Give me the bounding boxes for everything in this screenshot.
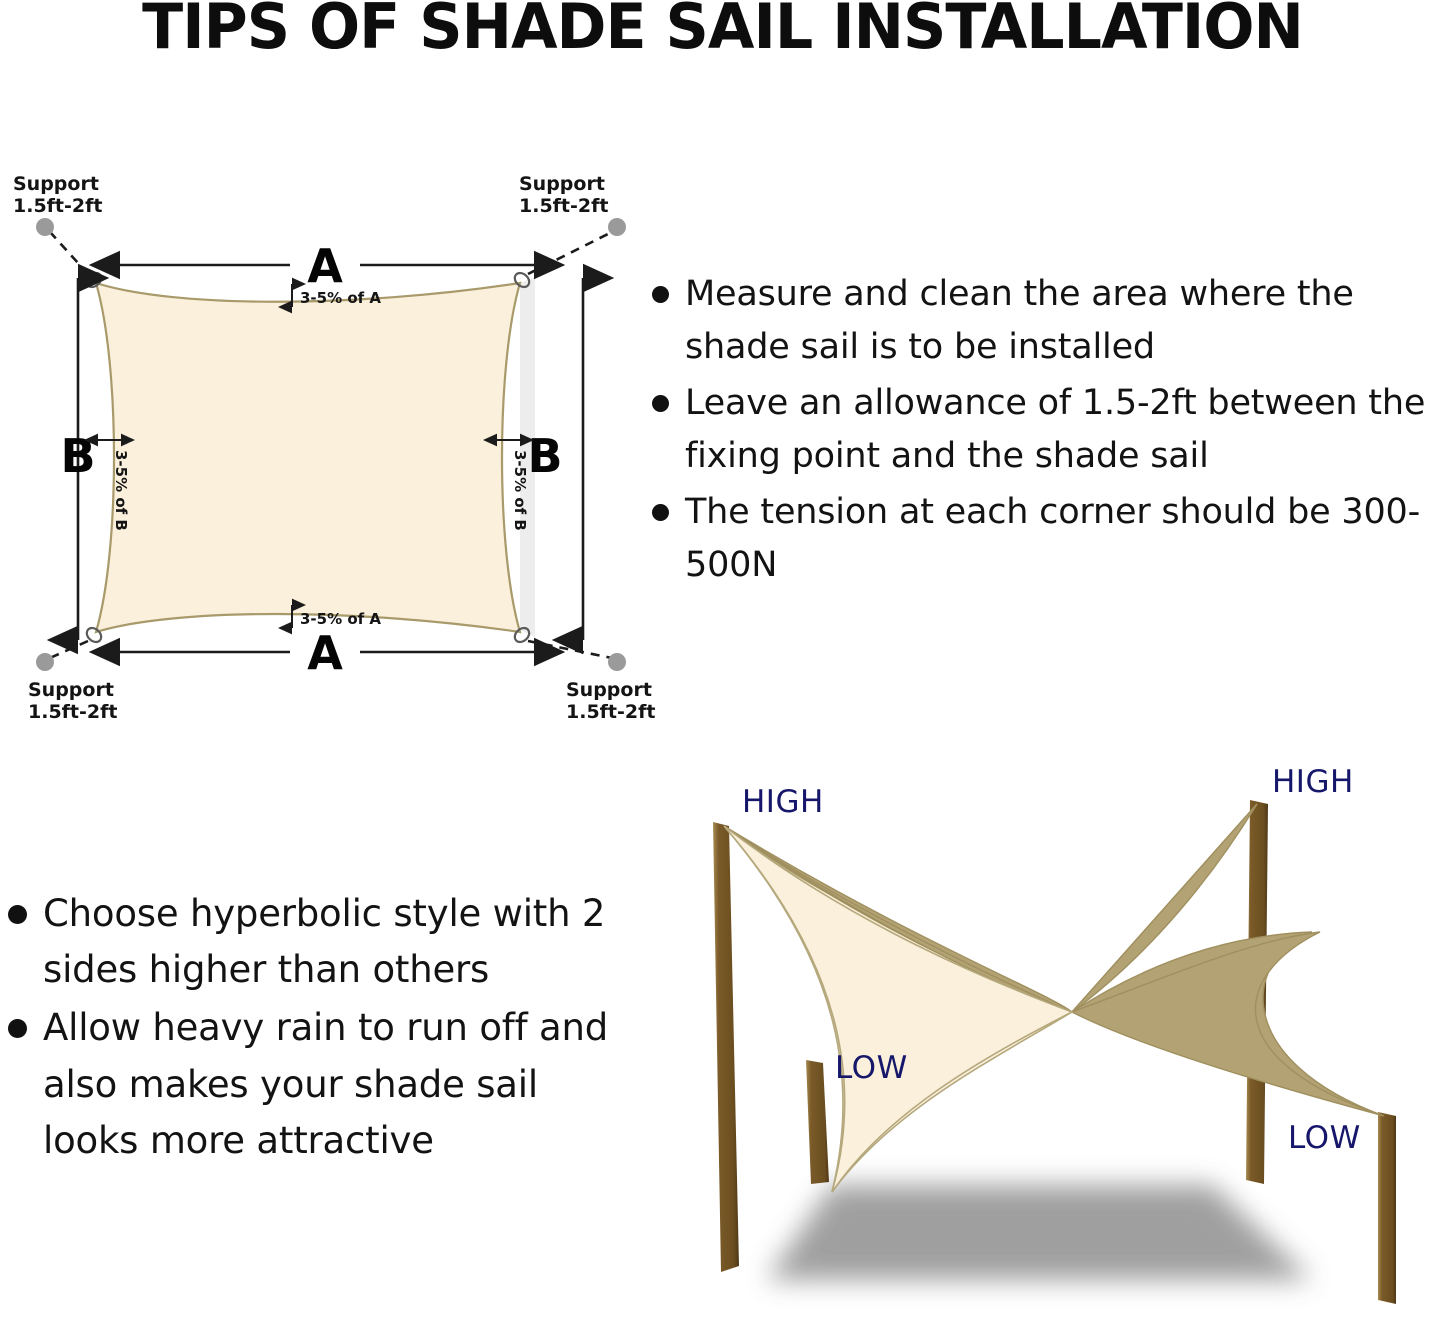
tip-text: Measure and clean the area where the sha… (685, 268, 1445, 373)
ground-shadow (767, 1185, 1312, 1280)
label-low-right: LOW (1288, 1120, 1361, 1156)
post-low-left (806, 1060, 829, 1184)
list-item: The tension at each corner should be 300… (652, 486, 1445, 591)
rectangular-sail-diagram: Support 1.5ft-2ft Support 1.5ft-2ft Supp… (0, 150, 660, 730)
label-low-left: LOW (835, 1050, 908, 1086)
dimension-b-label: B (527, 429, 562, 483)
bullet-icon (8, 1019, 27, 1038)
post-low-right (1378, 1112, 1396, 1304)
support-label-line1: Support (519, 173, 605, 195)
tip-text: Leave an allowance of 1.5-2ft between th… (685, 377, 1445, 482)
hyperbolic-sail-illustration: HIGH HIGH LOW LOW (672, 760, 1445, 1319)
bullet-icon (652, 504, 669, 521)
installation-tips-list: Measure and clean the area where the sha… (652, 268, 1445, 595)
support-label-top-right: Support 1.5ft-2ft (519, 173, 608, 217)
support-label-line1: Support (13, 173, 99, 195)
post-high-left (713, 822, 739, 1272)
support-label-line2: 1.5ft-2ft (28, 701, 117, 723)
support-label-line2: 1.5ft-2ft (566, 701, 655, 723)
support-label-line2: 1.5ft-2ft (13, 195, 102, 217)
dimension-b-right: B (527, 278, 583, 640)
slack-a-label: 3-5% of A (300, 610, 381, 628)
dimension-a-bottom: A (120, 626, 534, 680)
support-label-bottom-left: Support 1.5ft-2ft (28, 679, 117, 723)
label-high-right: HIGH (1272, 764, 1354, 800)
tip-text: The tension at each corner should be 300… (685, 486, 1445, 591)
list-item: Choose hyperbolic style with 2 sides hig… (8, 886, 638, 998)
list-item: Allow heavy rain to run off and also mak… (8, 1000, 638, 1169)
support-label-top-left: Support 1.5ft-2ft (13, 173, 102, 217)
bullet-icon (8, 905, 27, 924)
support-label-line1: Support (28, 679, 114, 701)
dimension-a-top: A (120, 239, 534, 293)
slack-b-left: 3-5% of B (98, 440, 130, 531)
dimension-b-label: B (60, 429, 95, 483)
dimension-a-label: A (307, 239, 343, 293)
slack-b-label: 3-5% of B (511, 450, 529, 531)
support-dot-bottom-right (608, 653, 626, 671)
slack-a-label: 3-5% of A (300, 289, 381, 307)
bullet-icon (652, 395, 669, 412)
list-item: Measure and clean the area where the sha… (652, 268, 1445, 373)
label-high-left: HIGH (742, 784, 824, 820)
dimension-a-label: A (307, 626, 343, 680)
support-label-bottom-right: Support 1.5ft-2ft (566, 679, 655, 723)
list-item: Leave an allowance of 1.5-2ft between th… (652, 377, 1445, 482)
support-dot-top-right (608, 218, 626, 236)
style-text: Allow heavy rain to run off and also mak… (43, 1000, 638, 1169)
support-label-line1: Support (566, 679, 652, 701)
support-dot-top-left (36, 218, 54, 236)
hyperbolic-style-list: Choose hyperbolic style with 2 sides hig… (8, 886, 638, 1171)
bullet-icon (652, 286, 669, 303)
style-text: Choose hyperbolic style with 2 sides hig… (43, 886, 638, 998)
page-title: TIPS OF SHADE SAIL INSTALLATION (22, 0, 1424, 59)
support-label-line2: 1.5ft-2ft (519, 195, 608, 217)
support-dot-bottom-left (36, 653, 54, 671)
dimension-b-left: B (60, 278, 95, 640)
shade-sail-shape (96, 283, 520, 632)
slack-b-label: 3-5% of B (112, 450, 130, 531)
sail-panel-light-front (724, 826, 1072, 1192)
